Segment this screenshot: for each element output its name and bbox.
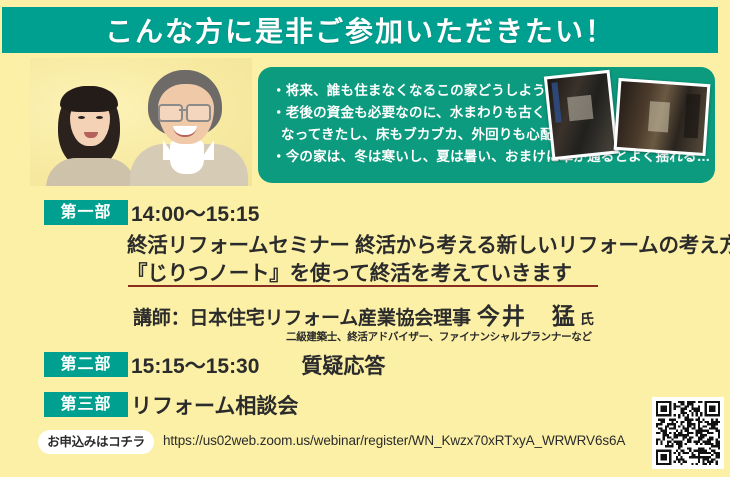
part3-badge: 第三部 bbox=[44, 392, 128, 417]
lecturer-name: 今井 猛 bbox=[471, 303, 580, 329]
concerns-box: ・将来、誰も住まなくなるこの家どうしよう… ・老後の資金も必要なのに、水まわりも… bbox=[258, 67, 715, 183]
man-glasses-right-lens bbox=[186, 104, 211, 122]
qr-code-image bbox=[656, 401, 720, 465]
part2-badge: 第二部 bbox=[44, 352, 128, 377]
old-bathroom-photo-image bbox=[547, 73, 615, 157]
section-divider bbox=[128, 285, 598, 287]
lecturer-line: 講師：日本住宅リフォーム産業協会理事今井 猛氏 bbox=[133, 297, 594, 331]
woman-left-eye bbox=[78, 116, 85, 119]
lecturer-qualifications: 二級建築士、終活アドバイザー、ファイナンシャルプランナーなど bbox=[286, 329, 592, 344]
headline-banner: こんな方に是非ご参加いただきたい！ bbox=[2, 7, 718, 53]
lecturer-suffix: 氏 bbox=[580, 311, 594, 327]
lecturer-prefix: 講師：日本住宅リフォーム産業協会理事 bbox=[133, 308, 471, 329]
headline-text: こんな方に是非ご参加いただきたい！ bbox=[105, 10, 615, 50]
old-room-photo bbox=[614, 78, 711, 156]
man-glasses-bridge bbox=[179, 109, 186, 111]
registration-url[interactable]: https://us02web.zoom.us/webinar/register… bbox=[163, 433, 625, 448]
part3-description: リフォーム相談会 bbox=[131, 390, 298, 420]
man-collar-right bbox=[200, 140, 214, 160]
man-glasses-left-lens bbox=[158, 104, 183, 122]
couple-photo bbox=[30, 58, 252, 186]
flyer-page: こんな方に是非ご参加いただきたい！ ・将来、誰も住まなくなるこの家どうしよう… … bbox=[0, 0, 730, 477]
part1-subtitle: 『じりつノート』を使って終活を考えていきます bbox=[127, 256, 572, 286]
old-room-photo-image bbox=[617, 81, 707, 153]
old-bathroom-photo bbox=[544, 70, 618, 160]
woman-bangs bbox=[60, 86, 118, 112]
qr-code[interactable] bbox=[652, 397, 724, 469]
apply-label-pill: お申込みはコチラ bbox=[38, 430, 154, 454]
woman-right-eye bbox=[96, 116, 103, 119]
part1-title: 終活リフォームセミナー 終活から考える新しいリフォームの考え方 bbox=[127, 228, 730, 258]
part1-badge: 第一部 bbox=[44, 200, 128, 225]
part1-time: 14:00〜15:15 bbox=[131, 198, 259, 228]
part2-time: 15:15〜15:30 質疑応答 bbox=[131, 350, 385, 380]
woman-body bbox=[46, 158, 136, 186]
man-collar-left bbox=[163, 140, 177, 160]
